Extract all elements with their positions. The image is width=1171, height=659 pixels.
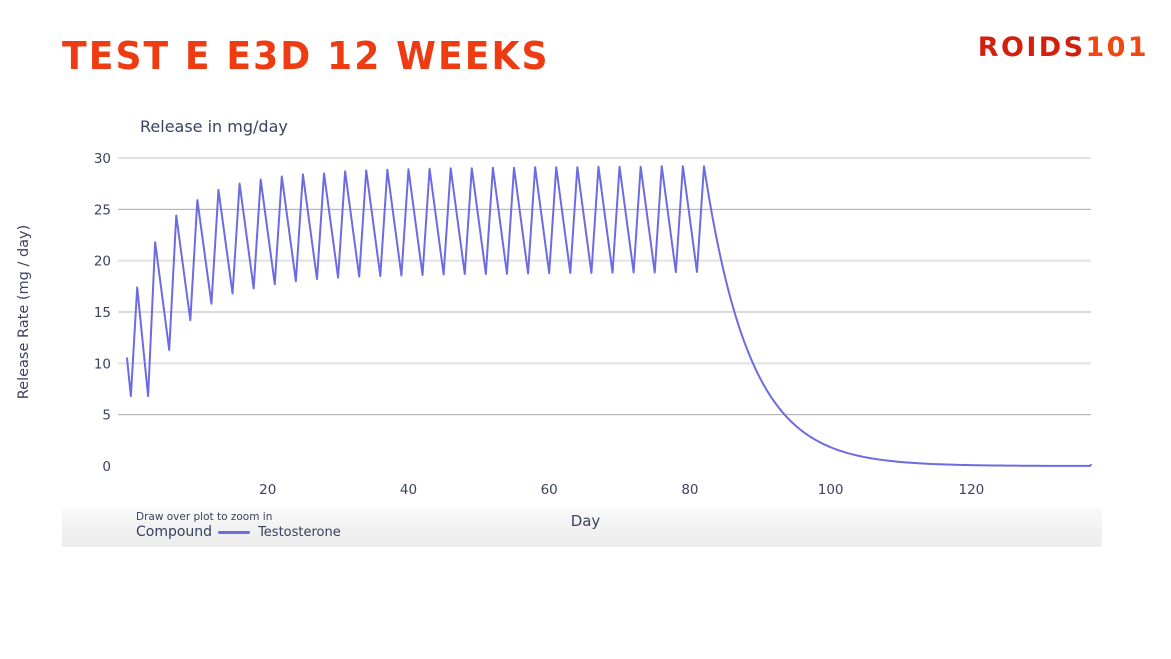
release-rate-line-chart[interactable]: 051015202530 20406080100120 Release in m… (0, 100, 1171, 555)
x-tick-label: 20 (259, 482, 276, 498)
y-tick-label: 5 (102, 408, 111, 424)
legend-item-testosterone[interactable]: Testosterone (258, 525, 341, 540)
x-tick-label: 100 (818, 482, 844, 498)
brand-logo: ROIDS101 (978, 32, 1149, 63)
y-tick-label: 15 (94, 305, 111, 321)
y-tick-label: 25 (94, 202, 111, 218)
x-tick-label: 80 (681, 482, 698, 498)
x-axis-tick-labels: 20406080100120 (259, 482, 984, 498)
page-header: TEST E E3D 12 WEEKS ROIDS101 (0, 0, 1171, 100)
brand-number: 101 (1085, 32, 1149, 63)
x-tick-label: 60 (541, 482, 558, 498)
y-axis-tick-labels: 051015202530 (94, 151, 111, 475)
brand-word: ROIDS (978, 32, 1086, 63)
legend-color-swatch (218, 531, 250, 534)
x-tick-label: 120 (958, 482, 984, 498)
y-tick-label: 30 (94, 151, 111, 167)
legend-title: Compound (136, 524, 212, 540)
series-line-testosterone[interactable] (127, 166, 1091, 466)
y-tick-label: 0 (102, 459, 111, 475)
y-tick-label: 10 (94, 356, 111, 372)
plot-caption: Release in mg/day (140, 117, 288, 136)
page-title: TEST E E3D 12 WEEKS (62, 34, 550, 78)
zoom-hint-text: Draw over plot to zoom in (136, 511, 272, 523)
y-axis-title: Release Rate (mg / day) (16, 225, 32, 400)
chart-container[interactable]: 051015202530 20406080100120 Release in m… (0, 100, 1171, 555)
y-tick-label: 20 (94, 254, 111, 270)
x-tick-label: 40 (400, 482, 417, 498)
chart-legend[interactable]: Compound Testosterone (136, 524, 341, 540)
